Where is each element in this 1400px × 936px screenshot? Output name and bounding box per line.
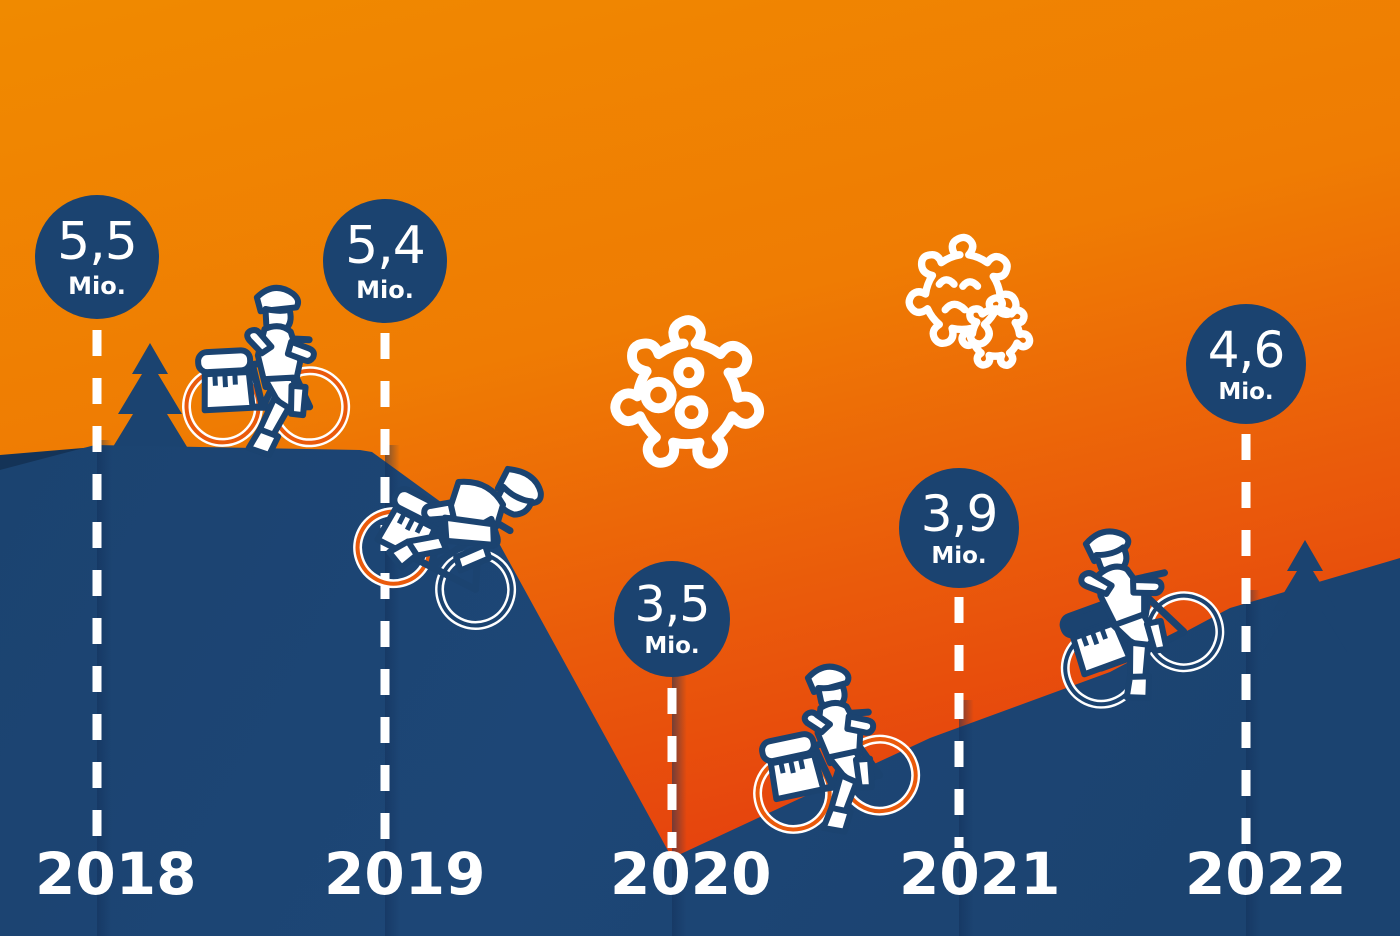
bubble-2022-unit: Mio. <box>1218 381 1273 404</box>
bubble-2021-value: 3,9 <box>921 489 998 539</box>
bubble-2018[interactable]: 5,5 Mio. <box>35 195 159 319</box>
bubble-2022[interactable]: 4,6 Mio. <box>1186 304 1306 424</box>
bubble-2020-value: 3,5 <box>635 580 710 629</box>
background-layer <box>0 0 1400 936</box>
bubble-2020[interactable]: 3,5 Mio. <box>614 561 730 677</box>
year-label-2022: 2022 <box>1185 845 1346 903</box>
bubble-2019-value: 5,4 <box>345 220 425 272</box>
infographic-canvas: 5,5 Mio. 5,4 Mio. 3,5 Mio. 3,9 Mio. 4,6 … <box>0 0 1400 936</box>
year-label-2019: 2019 <box>324 845 485 903</box>
bubble-2018-unit: Mio. <box>68 274 126 298</box>
year-label-2020: 2020 <box>610 845 771 903</box>
bubble-2022-value: 4,6 <box>1208 325 1285 375</box>
bubble-2019[interactable]: 5,4 Mio. <box>323 199 447 323</box>
bubble-2021-unit: Mio. <box>931 545 986 568</box>
bubble-2018-value: 5,5 <box>57 216 137 268</box>
bubble-2019-unit: Mio. <box>356 278 414 302</box>
year-label-2021: 2021 <box>899 845 1060 903</box>
year-label-2018: 2018 <box>35 845 196 903</box>
bubble-2020-unit: Mio. <box>644 635 699 658</box>
bubble-2021[interactable]: 3,9 Mio. <box>899 468 1019 588</box>
